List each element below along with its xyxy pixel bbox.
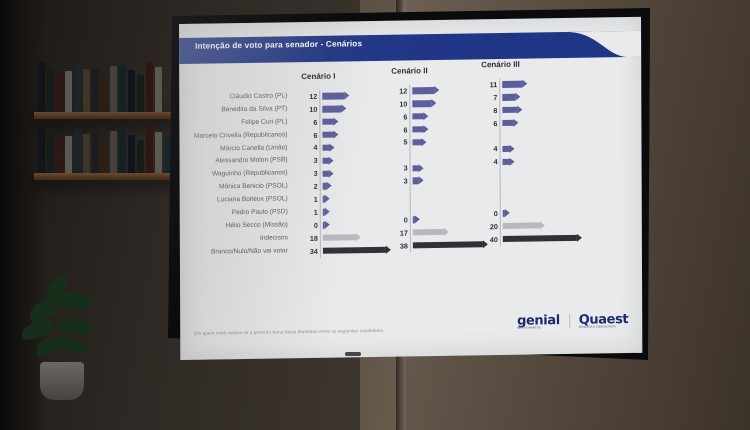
book [110,131,117,173]
book [47,67,54,112]
book [128,70,135,112]
book [56,72,63,112]
tv-bezel-highlight [150,8,650,368]
tv-brand-nub [345,352,361,356]
book [38,127,45,173]
screenshot-scene: Intenção de voto para senador - Cenários… [0,0,750,430]
book [101,138,108,173]
book [92,133,99,173]
book [38,62,45,112]
book [92,68,99,112]
book [119,65,126,112]
book [83,69,90,112]
book [65,136,72,173]
book [83,134,90,173]
book [128,135,135,173]
book [119,130,126,173]
books-upper [38,62,162,112]
book [137,75,144,112]
book [137,140,144,173]
book [47,132,54,173]
book [74,64,81,112]
book [56,137,63,173]
book [65,71,72,112]
book [101,73,108,112]
book [74,129,81,173]
book [110,66,117,112]
